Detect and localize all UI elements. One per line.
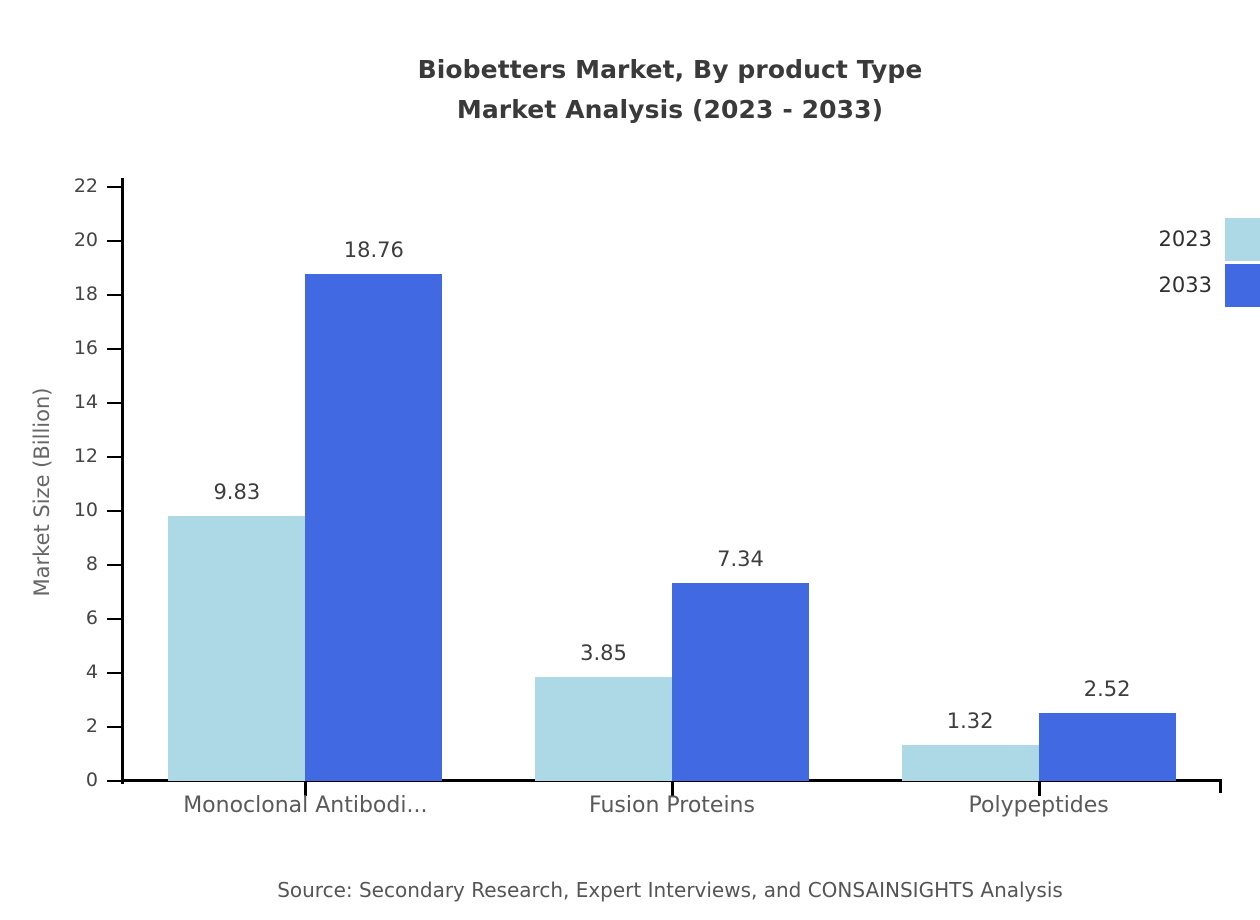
bar-2023-0[interactable] xyxy=(168,516,305,781)
y-tick-0 xyxy=(107,780,122,782)
y-tick-label-4: 4 xyxy=(40,663,98,682)
y-tick-label-8: 8 xyxy=(40,555,98,574)
y-tick-4 xyxy=(107,672,122,674)
legend-item-2033[interactable]: 2033 xyxy=(1120,264,1260,310)
y-tick-14 xyxy=(107,402,122,404)
y-tick-label-16: 16 xyxy=(40,339,98,358)
y-tick-label-12: 12 xyxy=(40,447,98,466)
chart-legend: 20232033 xyxy=(1120,218,1260,310)
y-tick-label-20: 20 xyxy=(40,231,98,250)
x-tick-label-1: Fusion Proteins xyxy=(472,793,872,818)
y-tick-label-0: 0 xyxy=(40,771,98,790)
bar-value-label-2033-1: 7.34 xyxy=(672,549,809,570)
bar-value-label-2023-2: 1.32 xyxy=(902,711,1039,732)
legend-label-2033: 2033 xyxy=(1159,273,1212,297)
bar-2033-1[interactable] xyxy=(672,583,809,781)
y-tick-label-10: 10 xyxy=(40,501,98,520)
y-tick-label-6: 6 xyxy=(40,609,98,628)
x-tick-label-0: Monoclonal Antibodi... xyxy=(105,793,505,818)
legend-swatch-2023 xyxy=(1225,218,1260,261)
bar-value-label-2023-1: 3.85 xyxy=(535,643,672,664)
y-tick-label-14: 14 xyxy=(40,393,98,412)
y-tick-2 xyxy=(107,726,122,728)
chart-title: Biobetters Market, By product Type Marke… xyxy=(0,50,1260,130)
y-tick-22 xyxy=(107,186,122,188)
x-tick-label-2: Polypeptides xyxy=(839,793,1239,818)
plot-area: 9.8318.763.857.341.322.52 xyxy=(122,187,1222,781)
chart-title-line1: Biobetters Market, By product Type xyxy=(418,55,923,84)
y-tick-20 xyxy=(107,240,122,242)
y-tick-18 xyxy=(107,294,122,296)
y-tick-10 xyxy=(107,510,122,512)
y-tick-label-22: 22 xyxy=(40,177,98,196)
legend-label-2023: 2023 xyxy=(1159,227,1212,251)
y-tick-12 xyxy=(107,456,122,458)
y-tick-6 xyxy=(107,618,122,620)
bar-value-label-2033-2: 2.52 xyxy=(1039,679,1176,700)
bar-2023-2[interactable] xyxy=(902,745,1039,781)
bar-2023-1[interactable] xyxy=(535,677,672,781)
bar-value-label-2023-0: 9.83 xyxy=(168,482,305,503)
y-tick-label-2: 2 xyxy=(40,717,98,736)
y-axis-label: Market Size (Billion) xyxy=(30,192,54,792)
bar-2033-0[interactable] xyxy=(305,274,442,781)
source-note: Source: Secondary Research, Expert Inter… xyxy=(0,878,1260,902)
y-tick-16 xyxy=(107,348,122,350)
bar-2033-2[interactable] xyxy=(1039,713,1176,781)
legend-swatch-2033 xyxy=(1225,264,1260,307)
bar-value-label-2033-0: 18.76 xyxy=(305,240,442,261)
x-axis-end-tick xyxy=(1219,779,1222,793)
chart-figure: Biobetters Market, By product Type Marke… xyxy=(0,0,1260,920)
y-tick-label-18: 18 xyxy=(40,285,98,304)
legend-item-2023[interactable]: 2023 xyxy=(1120,218,1260,264)
y-tick-8 xyxy=(107,564,122,566)
chart-title-line2: Market Analysis (2023 - 2033) xyxy=(0,90,1260,130)
